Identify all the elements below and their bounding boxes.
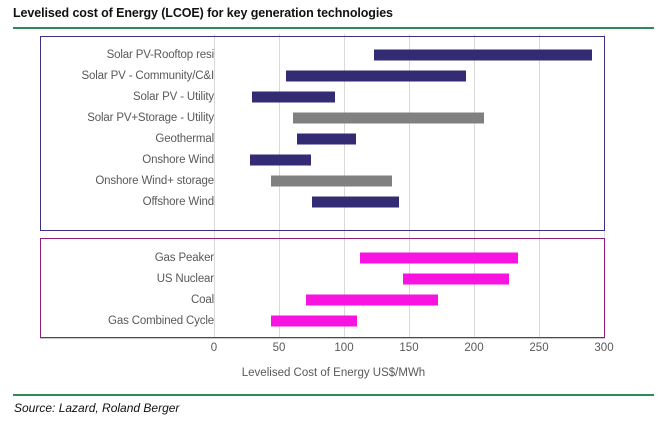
category-label: Geothermal [155, 133, 214, 145]
x-axis-title: Levelised Cost of Energy US$/MWh [0, 367, 667, 379]
x-tick-label-50: 50 [273, 342, 286, 354]
range-bar [312, 196, 399, 207]
category-label: Solar PV - Utility [133, 91, 214, 103]
title-divider-top [13, 27, 654, 29]
bar-row: Solar PV+Storage - Utility [0, 107, 667, 128]
range-bar [252, 91, 335, 102]
x-tick-label-150: 150 [399, 342, 418, 354]
bar-row: Gas Peaker [0, 247, 667, 268]
range-bar [286, 70, 467, 81]
category-label: Solar PV-Rooftop resi [107, 49, 214, 61]
category-label: Gas Peaker [155, 252, 214, 264]
category-label: Coal [191, 294, 214, 306]
x-tick-label-250: 250 [529, 342, 548, 354]
bar-row: Onshore Wind [0, 149, 667, 170]
range-bar [374, 49, 592, 60]
range-bar [293, 112, 484, 123]
category-label: Solar PV+Storage - Utility [87, 112, 214, 124]
category-label: Solar PV - Community/C&I [81, 70, 214, 82]
category-label: US Nuclear [157, 273, 214, 285]
category-label: Onshore Wind [142, 154, 214, 166]
x-tick-label-100: 100 [334, 342, 353, 354]
chart-plot-area: Solar PV-Rooftop resiSolar PV - Communit… [0, 34, 667, 390]
bar-row: Solar PV - Utility [0, 86, 667, 107]
x-tick-label-0: 0 [211, 342, 217, 354]
page-title: Levelised cost of Energy (LCOE) for key … [13, 6, 393, 20]
x-tick-label-200: 200 [464, 342, 483, 354]
range-bar [271, 175, 392, 186]
category-label: Offshore Wind [143, 196, 214, 208]
range-bar [306, 294, 437, 305]
range-bar [271, 315, 357, 326]
bar-row: Solar PV - Community/C&I [0, 65, 667, 86]
bar-row: Solar PV-Rooftop resi [0, 44, 667, 65]
category-label: Onshore Wind+ storage [95, 175, 214, 187]
range-bar [297, 133, 356, 144]
range-bar [250, 154, 311, 165]
bar-row: Coal [0, 289, 667, 310]
source-divider [13, 394, 654, 396]
x-axis-line [40, 338, 605, 339]
bar-row: Gas Combined Cycle [0, 310, 667, 331]
range-bar [360, 252, 519, 263]
bar-row: Onshore Wind+ storage [0, 170, 667, 191]
bar-row: Offshore Wind [0, 191, 667, 212]
source-note: Source: Lazard, Roland Berger [14, 401, 179, 415]
bar-row: US Nuclear [0, 268, 667, 289]
x-tick-label-300: 300 [594, 342, 613, 354]
category-label: Gas Combined Cycle [108, 315, 214, 327]
bar-row: Geothermal [0, 128, 667, 149]
range-bar [403, 273, 510, 284]
